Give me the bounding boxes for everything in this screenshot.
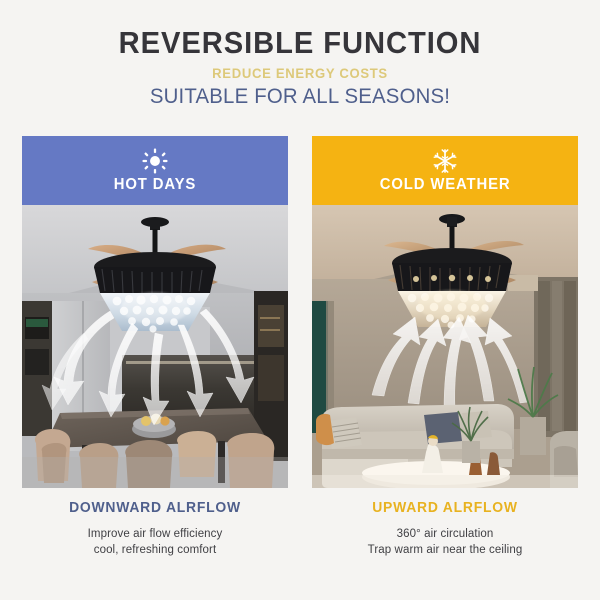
caption-line-1: Improve air flow efficiency (22, 527, 288, 543)
panel-hot-days: HOT DAYS (22, 136, 288, 488)
panel-label-cold-weather: COLD WEATHER (380, 176, 511, 194)
header-block: REVERSIBLE FUNCTION REDUCE ENERGY COSTS … (0, 26, 600, 109)
photo-hot-days-kitchen (22, 205, 288, 488)
infographic-page: REVERSIBLE FUNCTION REDUCE ENERGY COSTS … (0, 0, 600, 600)
page-subtitle: REDUCE ENERGY COSTS (9, 66, 591, 81)
snowflake-icon (432, 148, 458, 174)
sun-icon (142, 148, 168, 174)
photo-cold-weather-living-room (312, 205, 578, 488)
caption-downward-airflow: DOWNWARD ALRFLOW Improve air flow effici… (22, 500, 288, 558)
caption-body-upward: 360° air circulation Trap warm air near … (312, 527, 578, 558)
page-title: REVERSIBLE FUNCTION (18, 26, 582, 59)
caption-body-downward: Improve air flow efficiency cool, refres… (22, 527, 288, 558)
caption-line-1: 360° air circulation (312, 527, 578, 543)
caption-line-2: cool, refreshing comfort (22, 543, 288, 559)
panel-header-cold-weather: COLD WEATHER (312, 136, 578, 205)
caption-upward-airflow: UPWARD ALRFLOW 360° air circulation Trap… (312, 500, 578, 558)
caption-line-2: Trap warm air near the ceiling (312, 543, 578, 559)
comparison-panels: HOT DAYS (22, 136, 578, 488)
page-tagline: SUITABLE FOR ALL SEASONS! (9, 85, 591, 109)
caption-row: DOWNWARD ALRFLOW Improve air flow effici… (22, 500, 578, 558)
caption-title-downward: DOWNWARD ALRFLOW (27, 500, 282, 516)
caption-title-upward: UPWARD ALRFLOW (317, 500, 572, 516)
panel-label-hot-days: HOT DAYS (114, 176, 196, 194)
panel-cold-weather: COLD WEATHER (312, 136, 578, 488)
panel-header-hot-days: HOT DAYS (22, 136, 288, 205)
